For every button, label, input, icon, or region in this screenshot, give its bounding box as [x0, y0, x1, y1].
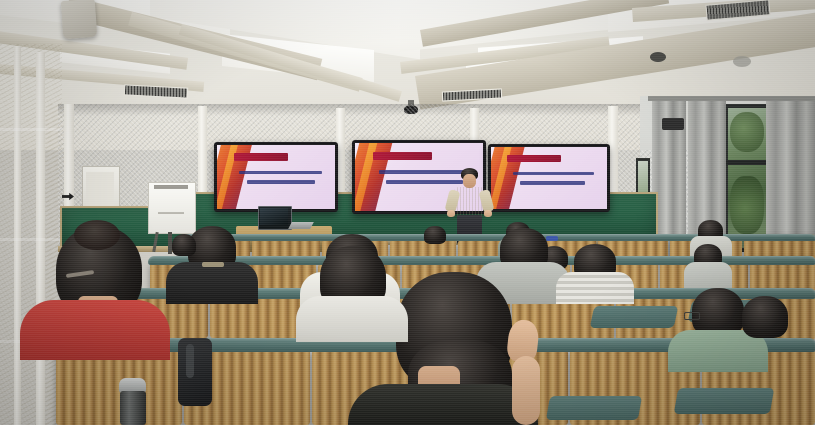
attendee-forearm [512, 356, 540, 425]
wall-speaker-right [662, 118, 684, 130]
backpack [178, 338, 212, 406]
presenter-hand-right [484, 210, 492, 217]
slide-heading [234, 153, 288, 161]
lecture-hall-photograph [0, 0, 815, 425]
left-display[interactable] [214, 142, 338, 212]
slide-heading [507, 155, 560, 162]
attendee-head [424, 226, 446, 244]
chair-seat-cushion [674, 388, 775, 414]
backpack-strap [186, 344, 194, 378]
ceiling-dome-icon [733, 56, 751, 67]
curtain-rod [648, 96, 815, 101]
foliage [730, 176, 764, 234]
slide-body-line [239, 171, 322, 175]
ceiling-speaker [61, 0, 98, 39]
attendee-head [692, 288, 744, 336]
slide-body-line [247, 180, 315, 184]
attendee-shirt [296, 296, 408, 342]
slide-right [491, 147, 607, 209]
slide-body-line [513, 172, 594, 175]
flipchart-clip [154, 185, 188, 189]
foliage [730, 112, 764, 152]
presenter [446, 168, 494, 244]
attendee-head [742, 296, 788, 338]
attendee-hair-bun [74, 220, 120, 250]
right-display[interactable] [488, 144, 610, 212]
attendee-lanyard [202, 262, 224, 267]
chair-seat-cushion [546, 396, 642, 420]
flipchart-board [148, 182, 196, 234]
slide-body-line [520, 181, 585, 184]
wall-cabinet-panel [86, 172, 114, 206]
attendee-shirt [166, 262, 258, 304]
water-bottle [120, 391, 146, 425]
slide-heading [373, 152, 432, 160]
attendee-head [172, 234, 196, 256]
chair-seat-cushion [590, 306, 679, 328]
glasses-icon [684, 312, 700, 320]
presenter-face [463, 174, 476, 188]
ceiling-light-fixture-icon [650, 52, 666, 62]
attendee-shirt [20, 300, 170, 360]
front-wall-shadow [58, 104, 648, 116]
wall-pilaster [14, 46, 21, 425]
slide-left [217, 145, 335, 209]
attendee-shirt [348, 384, 538, 425]
laptop-keyboard [288, 222, 314, 229]
presenter-hand-left [447, 210, 455, 217]
laptop-screen [260, 208, 288, 225]
flipchart-text [158, 212, 184, 214]
desk-item [546, 236, 558, 241]
attendee-shirt [556, 272, 634, 304]
